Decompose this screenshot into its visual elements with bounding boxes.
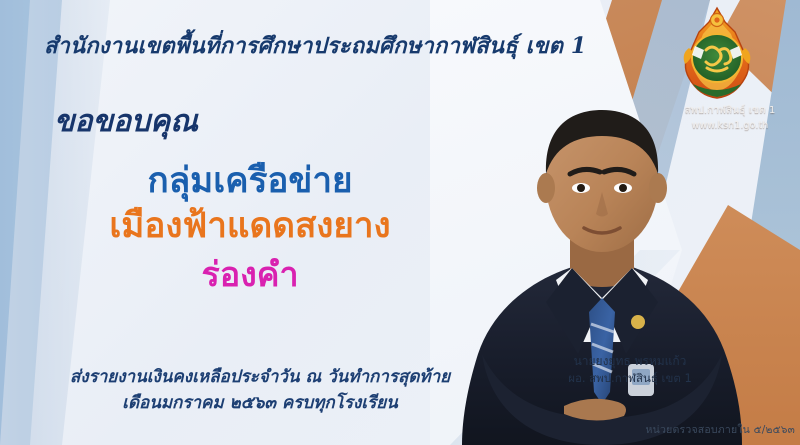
thank-you-banner: สพป.กาฬสินธุ์ เขต 1 www.ksn1.go.th สำนัก… — [0, 0, 800, 445]
footer-message: ส่งรายงานเงินคงเหลือประจำวัน ณ วันทำการส… — [0, 364, 520, 417]
audit-unit-note: หน่วยตรวจสอบภายใน ๕/๒๕๖๓ — [600, 421, 795, 438]
footer-line-1: ส่งรายงานเงินคงเหลือประจำวัน ณ วันทำการส… — [0, 364, 520, 390]
organization-title: สำนักงานเขตพื้นที่การศึกษาประถมศึกษากาฬส… — [44, 28, 644, 63]
signature-block: นายยงยุทธ พรหมแก้ว ผอ. สพป.กาฬสินธุ์ เขต… — [500, 352, 760, 387]
main-content: กลุ่มเครือข่าย เมืองฟ้าแดดสงยาง ร่องคำ — [0, 160, 500, 299]
network-name: เมืองฟ้าแดดสงยาง — [0, 204, 500, 250]
signature-name: นายยงยุทธ พรหมแก้ว — [500, 352, 760, 370]
thanks-heading: ขอขอบคุณ — [54, 98, 198, 145]
district-name: ร่องคำ — [0, 253, 500, 299]
signature-role: ผอ. สพป.กาฬสินธุ์ เขต 1 — [500, 370, 760, 387]
footer-line-2: เดือนมกราคม ๒๕๖๓ ครบทุกโรงเรียน — [0, 390, 520, 416]
logo-website: www.ksn1.go.th — [660, 119, 800, 133]
logo-office-name: สพป.กาฬสินธุ์ เขต 1 — [660, 104, 800, 119]
logo-caption: สพป.กาฬสินธุ์ เขต 1 www.ksn1.go.th — [660, 104, 800, 132]
obec-emblem-icon — [673, 6, 761, 102]
network-label: กลุ่มเครือข่าย — [0, 160, 500, 204]
